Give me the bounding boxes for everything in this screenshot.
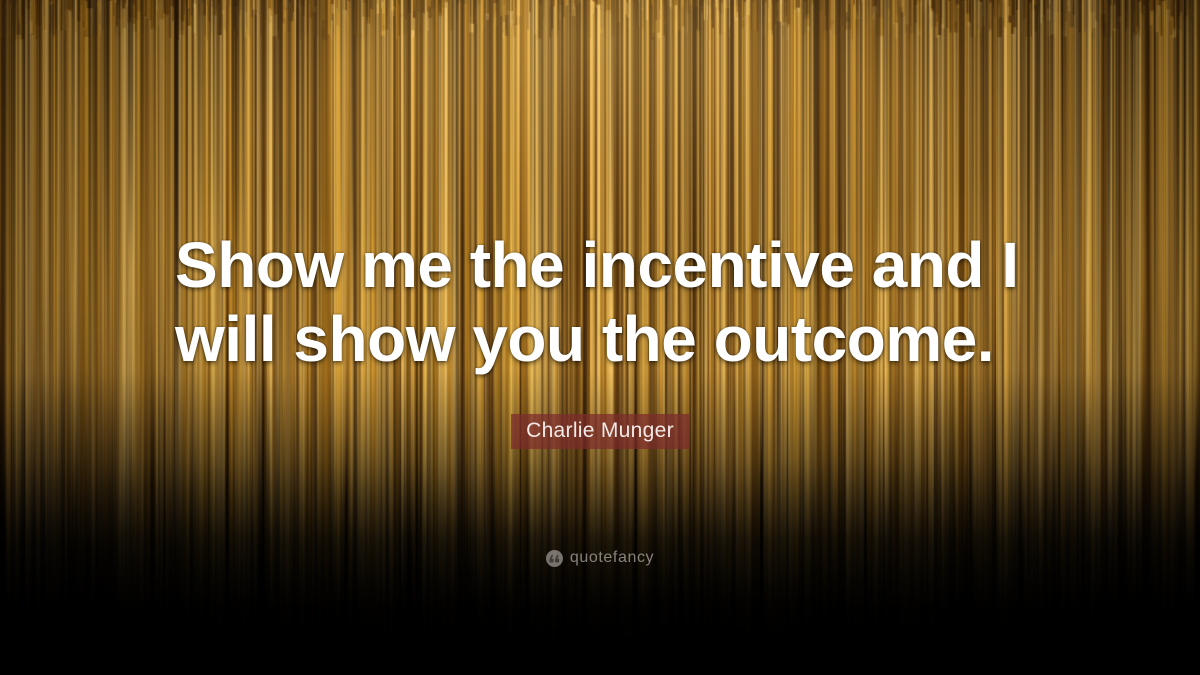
watermark: quotefancy bbox=[0, 549, 1200, 567]
poster-content: Show me the incentive and I will show yo… bbox=[0, 0, 1200, 675]
author-row: Charlie Munger bbox=[0, 414, 1200, 449]
quote-poster: Show me the incentive and I will show yo… bbox=[0, 0, 1200, 675]
watermark-label: quotefancy bbox=[570, 549, 654, 567]
quote-mark-icon bbox=[546, 550, 563, 567]
quote-text: Show me the incentive and I will show yo… bbox=[175, 228, 1030, 376]
author-name-badge: Charlie Munger bbox=[511, 414, 689, 449]
